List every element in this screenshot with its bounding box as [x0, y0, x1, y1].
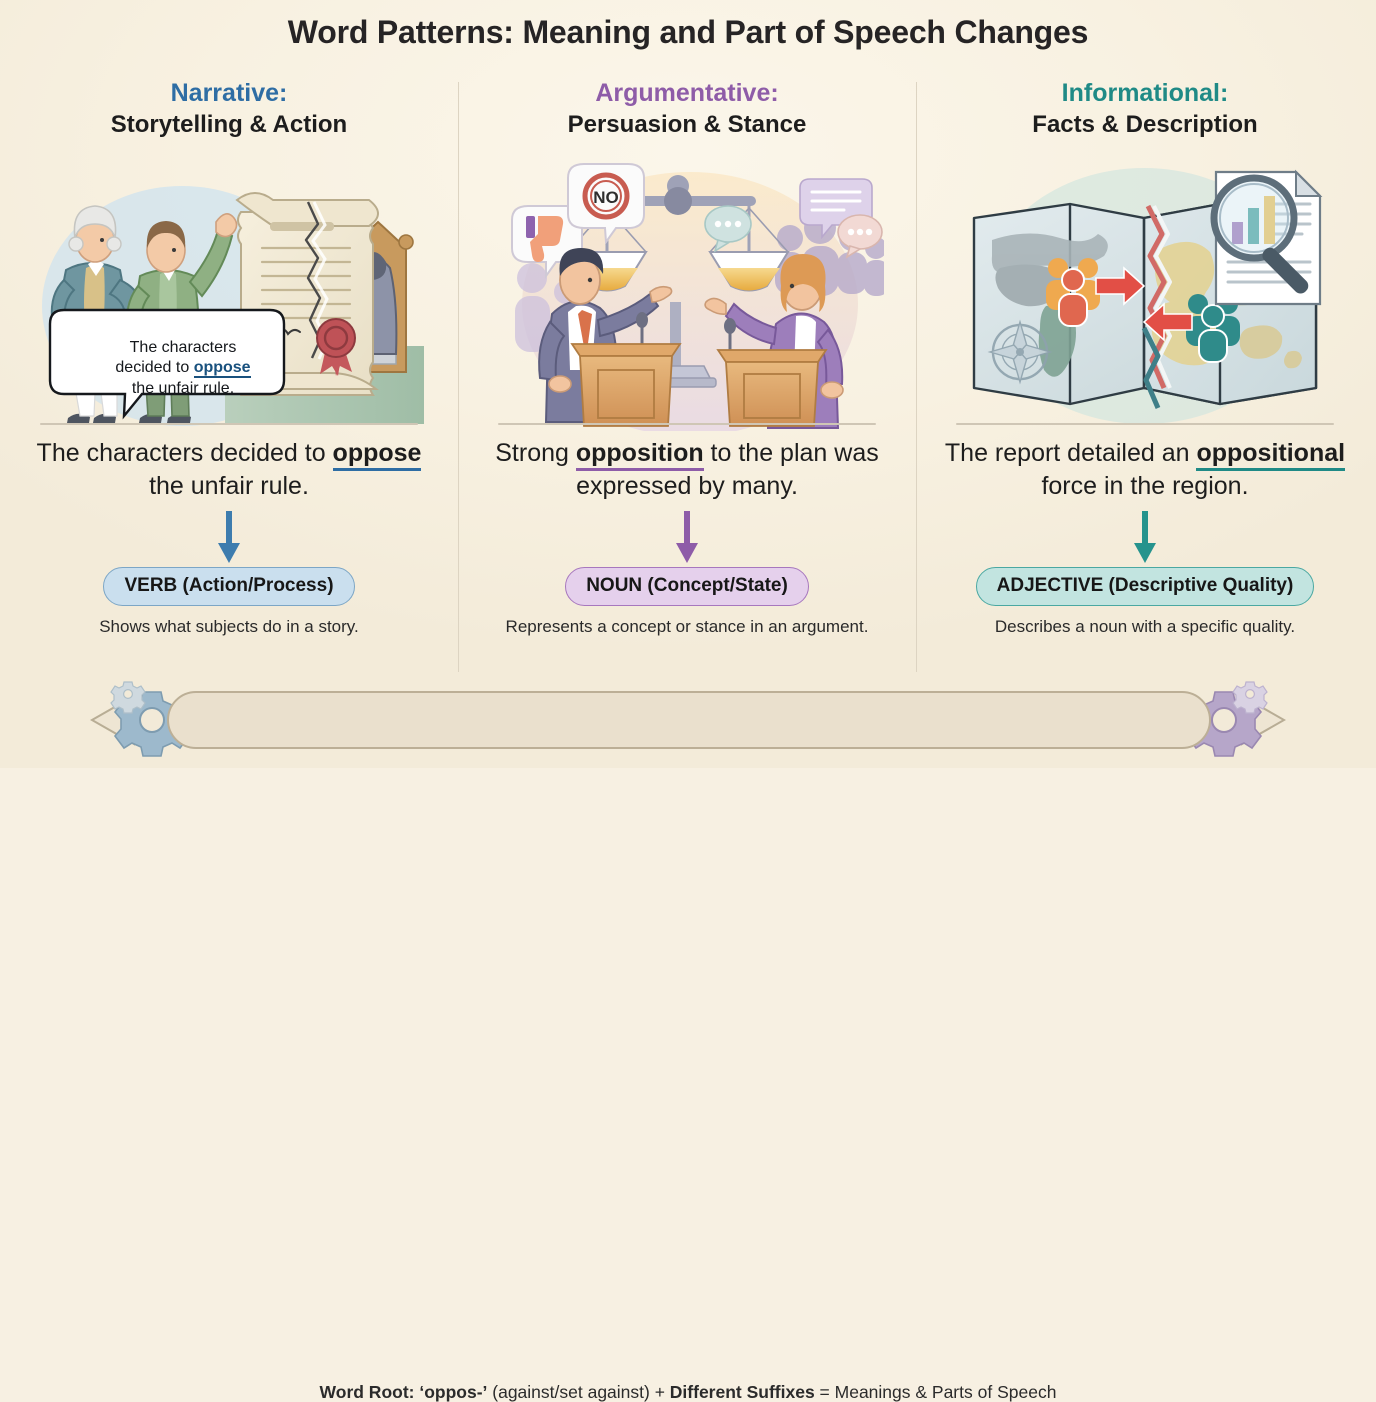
column-header-informational: Informational: Facts & Description [916, 78, 1374, 140]
illustration-baseline [956, 423, 1334, 425]
narrative-speech-bubble-text: The characters decided to oppose the unf… [80, 338, 286, 399]
down-arrow-icon [674, 511, 700, 565]
informational-pill-row: ADJECTIVE (Descriptive Quality) [916, 567, 1374, 606]
map-report-scene-svg [948, 156, 1342, 431]
sentence-after: force in the region. [1041, 472, 1248, 500]
word-root-gloss: (against/set against) + [487, 1382, 669, 1402]
bubble-line-2-prefix: decided to [115, 359, 193, 376]
column-argumentative: Argumentative: Persuasion & Stance [458, 78, 916, 678]
page-title: Word Patterns: Meaning and Part of Speec… [0, 14, 1376, 51]
suffix-label: Different Suffixes [670, 1382, 815, 1402]
narrative-illustration: The characters decided to oppose the unf… [32, 156, 426, 431]
argumentative-pill-row: NOUN (Concept/State) [458, 567, 916, 606]
bubble-keyword: oppose [194, 359, 251, 378]
sentence-highlight-word: opposition [576, 439, 704, 471]
column-subtitle-label: Facts & Description [916, 110, 1374, 140]
footer-result: = Meanings & Parts of Speech [815, 1382, 1057, 1402]
argumentative-arrow-wrap [458, 511, 916, 565]
argumentative-example-sentence: Strong opposition to the plan was expres… [477, 437, 897, 503]
sentence-before: The report detailed an [945, 439, 1197, 467]
illustration-baseline [498, 423, 876, 425]
column-narrative: Narrative: Storytelling & Action [0, 78, 458, 678]
part-of-speech-badge: NOUN (Concept/State) [565, 567, 809, 606]
footer-banner-svg [0, 680, 1376, 760]
sentence-highlight-word: oppositional [1196, 439, 1345, 471]
column-header-narrative: Narrative: Storytelling & Action [0, 78, 458, 140]
narrative-example-sentence: The characters decided to oppose the unf… [19, 437, 439, 503]
narrative-pill-row: VERB (Action/Process) [0, 567, 458, 606]
column-kind-label: Informational: [916, 78, 1374, 108]
bubble-line-1: The characters [130, 339, 237, 356]
gear-icon-left-small [111, 682, 145, 713]
informational-illustration [948, 156, 1342, 431]
footer-equation-text: Word Root: ‘oppos-’ (against/set against… [160, 1383, 1216, 1402]
down-arrow-icon [1132, 511, 1158, 565]
infographic-root: Word Patterns: Meaning and Part of Speec… [0, 0, 1376, 768]
sentence-before: Strong [495, 439, 576, 467]
informational-caption: Describes a noun with a specific quality… [945, 616, 1345, 639]
argumentative-illustration: NO [490, 156, 884, 431]
sentence-before: The characters decided to [37, 439, 333, 467]
sentence-highlight-word: oppose [333, 439, 422, 471]
column-informational: Informational: Facts & Description [916, 78, 1374, 678]
part-of-speech-badge: VERB (Action/Process) [103, 567, 354, 606]
debate-scene-svg: NO [490, 156, 884, 431]
sentence-after: the unfair rule. [149, 472, 309, 500]
down-arrow-icon [216, 511, 242, 565]
word-root-label: Word Root: ‘oppos-’ [320, 1382, 488, 1402]
column-kind-label: Argumentative: [458, 78, 916, 108]
argumentative-caption: Represents a concept or stance in an arg… [487, 616, 887, 639]
gear-icon-right-small [1233, 682, 1267, 713]
informational-arrow-wrap [916, 511, 1374, 565]
column-header-argumentative: Argumentative: Persuasion & Stance [458, 78, 916, 140]
column-kind-label: Narrative: [0, 78, 458, 108]
svg-text:NO: NO [593, 188, 619, 207]
word-root-footer: Word Root: ‘oppos-’ (against/set against… [0, 680, 1376, 760]
bubble-line-3: the unfair rule. [132, 380, 234, 397]
narrative-caption: Shows what subjects do in a story. [29, 616, 429, 639]
illustration-baseline [40, 423, 418, 425]
narrative-arrow-wrap [0, 511, 458, 565]
part-of-speech-badge: ADJECTIVE (Descriptive Quality) [976, 567, 1315, 606]
column-subtitle-label: Persuasion & Stance [458, 110, 916, 140]
column-subtitle-label: Storytelling & Action [0, 110, 458, 140]
informational-example-sentence: The report detailed an oppositional forc… [935, 437, 1355, 503]
